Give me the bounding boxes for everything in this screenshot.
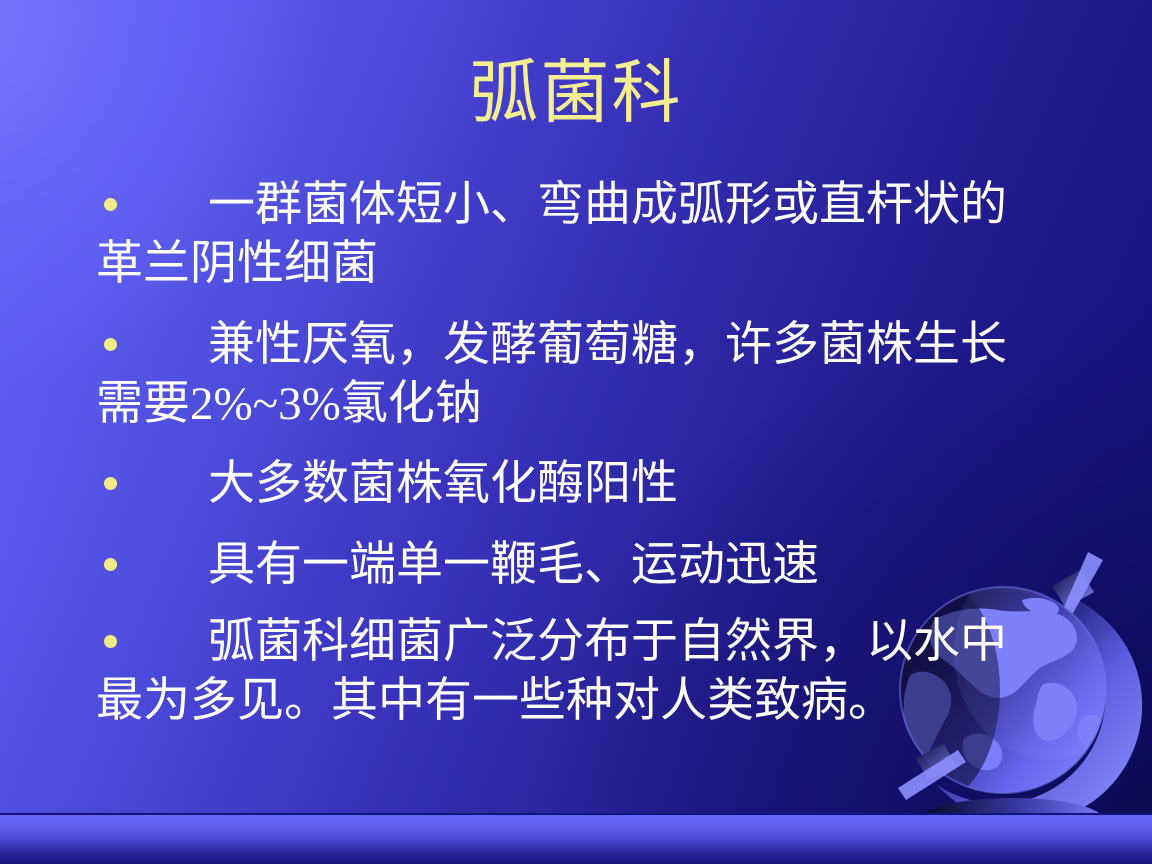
bullet-dot-icon	[104, 635, 117, 648]
bullet-dot-icon	[104, 477, 117, 490]
slide-title: 弧菌科	[0, 52, 1152, 134]
bullet-item: 大多数菌株氧化酶阳性	[96, 455, 1026, 514]
bullet-text: 一群菌体短小、弯曲成弧形或直杆状的革兰阴性细菌	[96, 179, 1007, 290]
bullet-text: 兼性厌氧，发酵葡萄糖，许多菌株生长需要2%~3%氯化钠	[96, 319, 1007, 430]
slide-body: 一群菌体短小、弯曲成弧形或直杆状的革兰阴性细菌 兼性厌氧，发酵葡萄糖，许多菌株生…	[96, 176, 1026, 731]
bottom-band	[0, 815, 1152, 864]
bullet-dot-icon	[104, 198, 117, 211]
bullet-dot-icon	[104, 338, 117, 351]
bullet-dot-icon	[104, 558, 117, 571]
bullet-item: 兼性厌氧，发酵葡萄糖，许多菌株生长需要2%~3%氯化钠	[96, 316, 1026, 434]
bullet-text: 大多数菌株氧化酶阳性	[208, 458, 678, 510]
bullet-text: 具有一端单一鞭毛、运动迅速	[208, 539, 819, 591]
bullet-item: 弧菌科细菌广泛分布于自然界，以水中最为多见。其中有一些种对人类致病。	[96, 613, 1026, 731]
bullet-item: 具有一端单一鞭毛、运动迅速	[96, 536, 1026, 595]
presentation-slide: 弧菌科 一群菌体短小、弯曲成弧形或直杆状的革兰阴性细菌 兼性厌氧，发酵葡萄糖，许…	[0, 0, 1152, 864]
bullet-text: 弧菌科细菌广泛分布于自然界，以水中最为多见。其中有一些种对人类致病。	[96, 616, 1007, 727]
bullet-item: 一群菌体短小、弯曲成弧形或直杆状的革兰阴性细菌	[96, 176, 1026, 294]
